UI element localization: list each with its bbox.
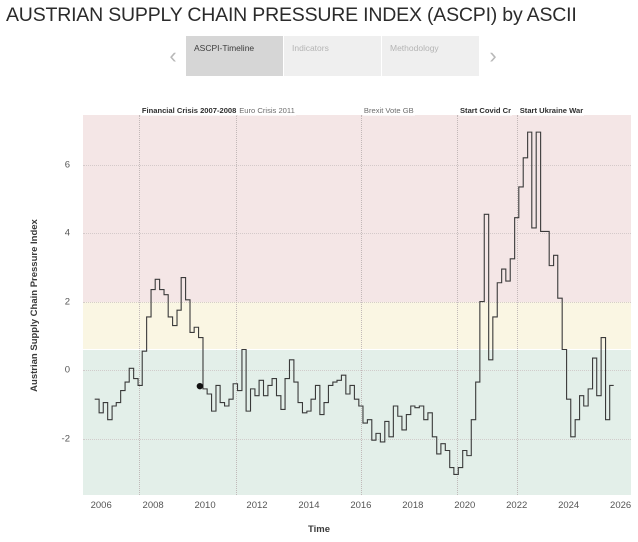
y-axis-label-text: Austrian Supply Chain Pressure Index	[29, 219, 40, 392]
x-tick-2006: 2006	[91, 500, 112, 511]
marker-layer	[197, 383, 203, 389]
y-tick-6: 6	[65, 159, 70, 170]
data-point-marker-0[interactable]	[197, 383, 203, 389]
series-line-ascpi	[95, 132, 614, 474]
series-plot	[83, 115, 631, 495]
y-tick--2: -2	[62, 433, 70, 444]
x-tick-2016: 2016	[350, 500, 371, 511]
x-tick-2010: 2010	[194, 500, 215, 511]
x-tick-2020: 2020	[454, 500, 475, 511]
page-title: AUSTRIAN SUPPLY CHAIN PRESSURE INDEX (AS…	[6, 4, 577, 27]
x-tick-2014: 2014	[298, 500, 319, 511]
x-axis-label: Time	[0, 524, 638, 535]
tabbar: ‹ ASCPI-Timeline Indicators Methodology …	[160, 36, 506, 76]
y-tick-0: 0	[65, 365, 70, 376]
y-tick-4: 4	[65, 228, 70, 239]
x-tick-2026: 2026	[610, 500, 631, 511]
tab-ascpi-timeline[interactable]: ASCPI-Timeline	[186, 36, 284, 76]
y-axis-label: Austrian Supply Chain Pressure Index	[27, 115, 41, 495]
x-tick-2022: 2022	[506, 500, 527, 511]
x-tick-2018: 2018	[402, 500, 423, 511]
y-tick-2: 2	[65, 296, 70, 307]
chevron-left-icon[interactable]: ‹	[160, 36, 186, 76]
x-tick-2024: 2024	[558, 500, 579, 511]
x-tick-2008: 2008	[143, 500, 164, 511]
chevron-right-icon[interactable]: ›	[480, 36, 506, 76]
tab-methodology[interactable]: Methodology	[382, 36, 480, 76]
ascpi-timeline-chart: Financial Crisis 2007-2008Euro Crisis 20…	[83, 115, 631, 495]
tab-indicators[interactable]: Indicators	[284, 36, 382, 76]
x-tick-2012: 2012	[246, 500, 267, 511]
